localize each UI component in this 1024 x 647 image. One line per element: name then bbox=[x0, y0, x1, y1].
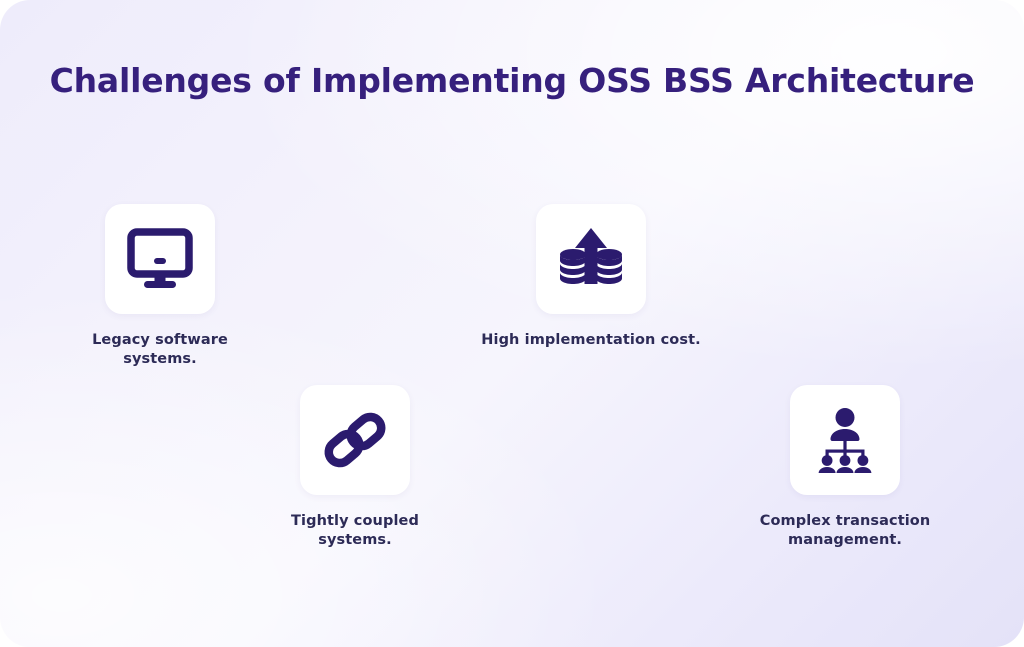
org-hierarchy-people-icon bbox=[813, 407, 877, 473]
infographic-slide: Challenges of Implementing OSS BSS Archi… bbox=[0, 0, 1024, 647]
challenge-item-high-implementation-cost: High implementation cost. bbox=[431, 204, 751, 350]
icon-card-tightly-coupled-systems bbox=[300, 385, 410, 495]
icon-card-legacy-software-systems bbox=[105, 204, 215, 314]
icon-card-high-implementation-cost bbox=[536, 204, 646, 314]
challenge-label: Tightly coupled systems. bbox=[291, 512, 419, 550]
coins-with-up-arrow-icon bbox=[558, 226, 624, 292]
chain-links-icon bbox=[323, 408, 387, 472]
challenge-label: Legacy software systems. bbox=[92, 331, 228, 369]
desktop-monitor-icon bbox=[127, 228, 193, 290]
page-title: Challenges of Implementing OSS BSS Archi… bbox=[0, 60, 1024, 102]
challenge-item-tightly-coupled-systems: Tightly coupled systems. bbox=[235, 385, 475, 550]
challenge-item-complex-transaction-management: Complex transaction management. bbox=[715, 385, 975, 550]
icon-card-complex-transaction-management bbox=[790, 385, 900, 495]
challenge-label: High implementation cost. bbox=[481, 331, 700, 350]
challenge-label: Complex transaction management. bbox=[760, 512, 931, 550]
challenge-item-legacy-software-systems: Legacy software systems. bbox=[45, 204, 275, 369]
